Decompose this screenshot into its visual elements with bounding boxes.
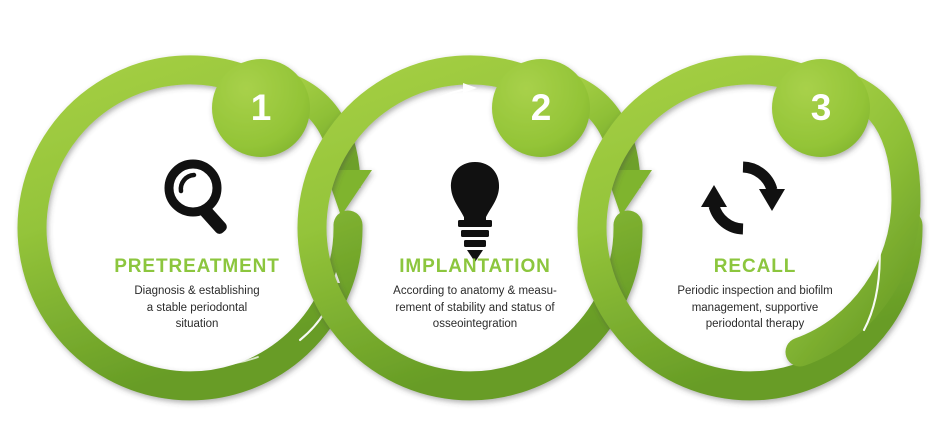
- step-3-badge: [772, 59, 870, 157]
- process-infographic: 1 2 3 PRETREATMENT Diagnosis & establish…: [0, 0, 940, 425]
- magnifier-icon: [169, 164, 229, 236]
- refresh-cycle-icon: [701, 167, 785, 229]
- process-flow-graphic: [0, 0, 940, 425]
- step-1-badge: [212, 59, 310, 157]
- dental-implant-icon: [451, 162, 499, 262]
- step-2-badge: [492, 59, 590, 157]
